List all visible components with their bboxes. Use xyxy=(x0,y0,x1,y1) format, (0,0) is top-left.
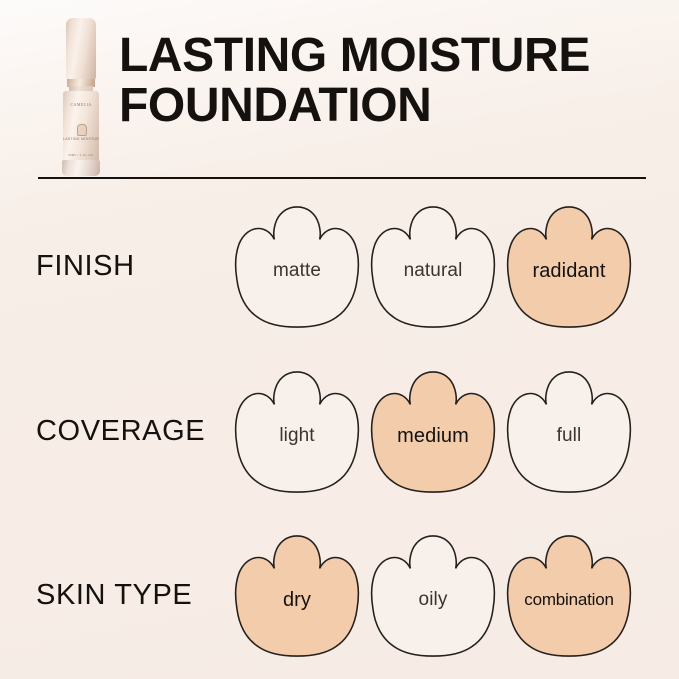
attribute-row: COVERAGElightmediumfull xyxy=(0,348,679,514)
option-blob[interactable]: full xyxy=(504,368,634,496)
attribute-options: mattenaturalradidant xyxy=(232,183,652,349)
option-blob[interactable]: radidant xyxy=(504,203,634,331)
option-blob[interactable]: dry xyxy=(232,532,362,660)
bottle-base xyxy=(62,160,100,176)
attribute-options: dryoilycombination xyxy=(232,512,652,678)
bottle-cap xyxy=(66,18,96,80)
page-title: LASTING MOISTURE FOUNDATION xyxy=(119,31,659,131)
option-label: light xyxy=(232,368,362,496)
option-label: combination xyxy=(504,532,634,660)
option-blob[interactable]: oily xyxy=(368,532,498,660)
bottle-brand-text: CAMELIA xyxy=(63,102,99,107)
option-blob[interactable]: medium xyxy=(368,368,498,496)
option-label: matte xyxy=(232,203,362,331)
attribute-row-label: FINISH xyxy=(36,183,236,349)
product-bottle-image: CAMELIA LASTING MOISTURE FOUNDATION 30ML… xyxy=(55,18,107,176)
product-infographic: CAMELIA LASTING MOISTURE FOUNDATION 30ML… xyxy=(0,0,679,679)
bottle-label-text: LASTING MOISTURE FOUNDATION xyxy=(63,137,99,142)
attribute-row: SKIN TYPEdryoilycombination xyxy=(0,512,679,678)
bottle-emblem-icon xyxy=(77,124,87,136)
option-blob[interactable]: natural xyxy=(368,203,498,331)
attribute-row: FINISHmattenaturalradidant xyxy=(0,183,679,349)
option-label: oily xyxy=(368,532,498,660)
attribute-options: lightmediumfull xyxy=(232,348,652,514)
option-label: medium xyxy=(368,368,498,496)
option-label: dry xyxy=(232,532,362,660)
option-blob[interactable]: matte xyxy=(232,203,362,331)
header-divider xyxy=(38,177,646,179)
attribute-rows: FINISHmattenaturalradidantCOVERAGElightm… xyxy=(0,180,679,679)
bottle-volume-text: 30ML / 1 FL.OZ. xyxy=(63,153,99,157)
option-blob[interactable]: light xyxy=(232,368,362,496)
option-label: natural xyxy=(368,203,498,331)
option-label: full xyxy=(504,368,634,496)
header: CAMELIA LASTING MOISTURE FOUNDATION 30ML… xyxy=(0,0,679,180)
attribute-row-label: COVERAGE xyxy=(36,348,236,514)
attribute-row-label: SKIN TYPE xyxy=(36,512,236,678)
option-label: radidant xyxy=(504,203,634,331)
option-blob[interactable]: combination xyxy=(504,532,634,660)
